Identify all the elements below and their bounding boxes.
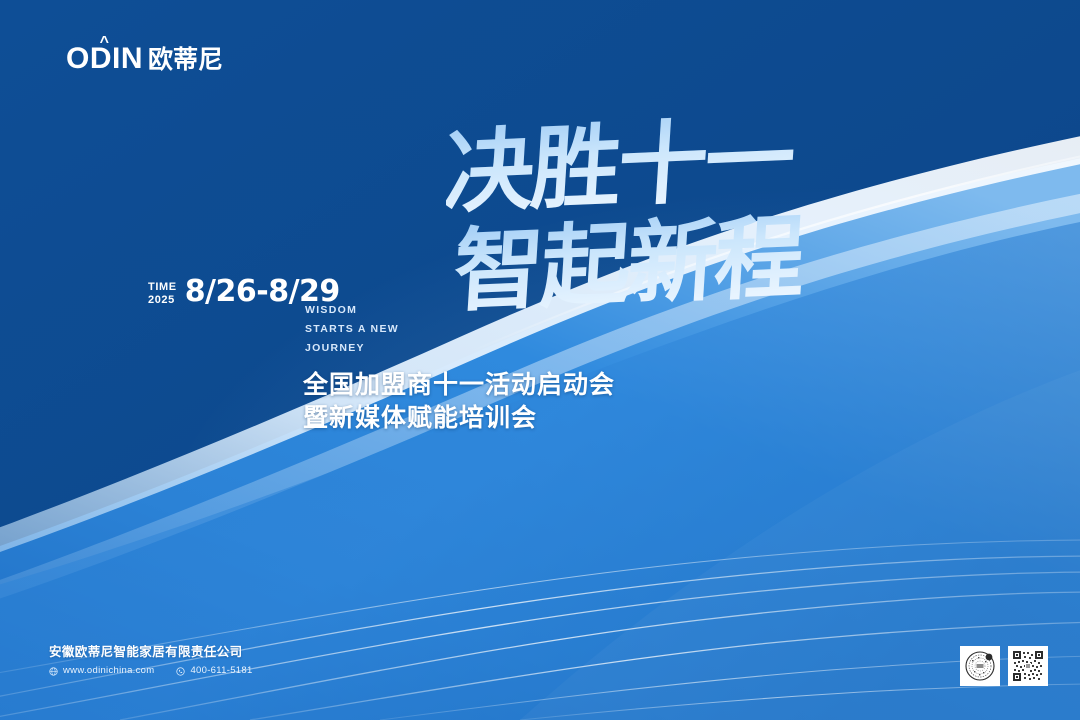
headline: 决胜十一 智起新程 <box>446 112 916 342</box>
tagline-line-2: STARTS A NEW <box>305 320 399 339</box>
background-artwork <box>0 0 1080 720</box>
footer-phone-text: 400-611-5181 <box>190 665 252 677</box>
round-seal-qr-icon <box>963 649 997 683</box>
time-label-top: TIME <box>148 281 177 294</box>
footer-phone: 400-611-5181 <box>176 665 252 677</box>
footer: 安徽欧蒂尼智能家居有限责任公司 www.odinichina.com 400-6… <box>49 643 253 677</box>
brand-logo: O^DIN 欧蒂尼 <box>66 44 223 74</box>
headline-calligraphy: 决胜十一 智起新程 <box>446 112 916 342</box>
wechat-mini-program-qr[interactable] <box>1008 646 1048 686</box>
tagline-line-3: JOURNEY <box>305 339 399 358</box>
wechat-official-account-qr[interactable] <box>960 646 1000 686</box>
footer-contact-row: www.odinichina.com 400-611-5181 <box>49 665 253 677</box>
event-poster: O^DIN 欧蒂尼 决胜十一 智起新程 TIME 2025 8/26-8/29 … <box>0 0 1080 720</box>
footer-website-text: www.odinichina.com <box>63 665 154 677</box>
globe-icon <box>49 667 58 676</box>
tagline-line-1: WISDOM <box>305 301 399 320</box>
logo-circumflex-icon: ^ <box>100 35 110 51</box>
event-subtitle: 全国加盟商十一活动启动会 暨新媒体赋能培训会 <box>303 369 615 435</box>
logo-chinese-name: 欧蒂尼 <box>148 48 223 73</box>
logo-o-letter: O <box>66 44 90 74</box>
qr-code-group <box>960 646 1048 686</box>
time-label-year: 2025 <box>148 294 177 307</box>
time-label: TIME 2025 <box>148 277 177 307</box>
footer-website: www.odinichina.com <box>49 665 154 677</box>
logo-wordmark: O^DIN <box>66 44 143 74</box>
subtitle-line-2: 暨新媒体赋能培训会 <box>303 402 615 435</box>
phone-icon <box>176 667 185 676</box>
english-tagline: WISDOM STARTS A NEW JOURNEY <box>305 301 399 358</box>
headline-line-2: 智起新程 <box>451 204 807 325</box>
logo-din-letters: DIN <box>90 42 143 75</box>
subtitle-line-1: 全国加盟商十一活动启动会 <box>303 369 615 402</box>
square-qr-icon <box>1011 649 1045 683</box>
footer-company-name: 安徽欧蒂尼智能家居有限责任公司 <box>49 643 253 661</box>
